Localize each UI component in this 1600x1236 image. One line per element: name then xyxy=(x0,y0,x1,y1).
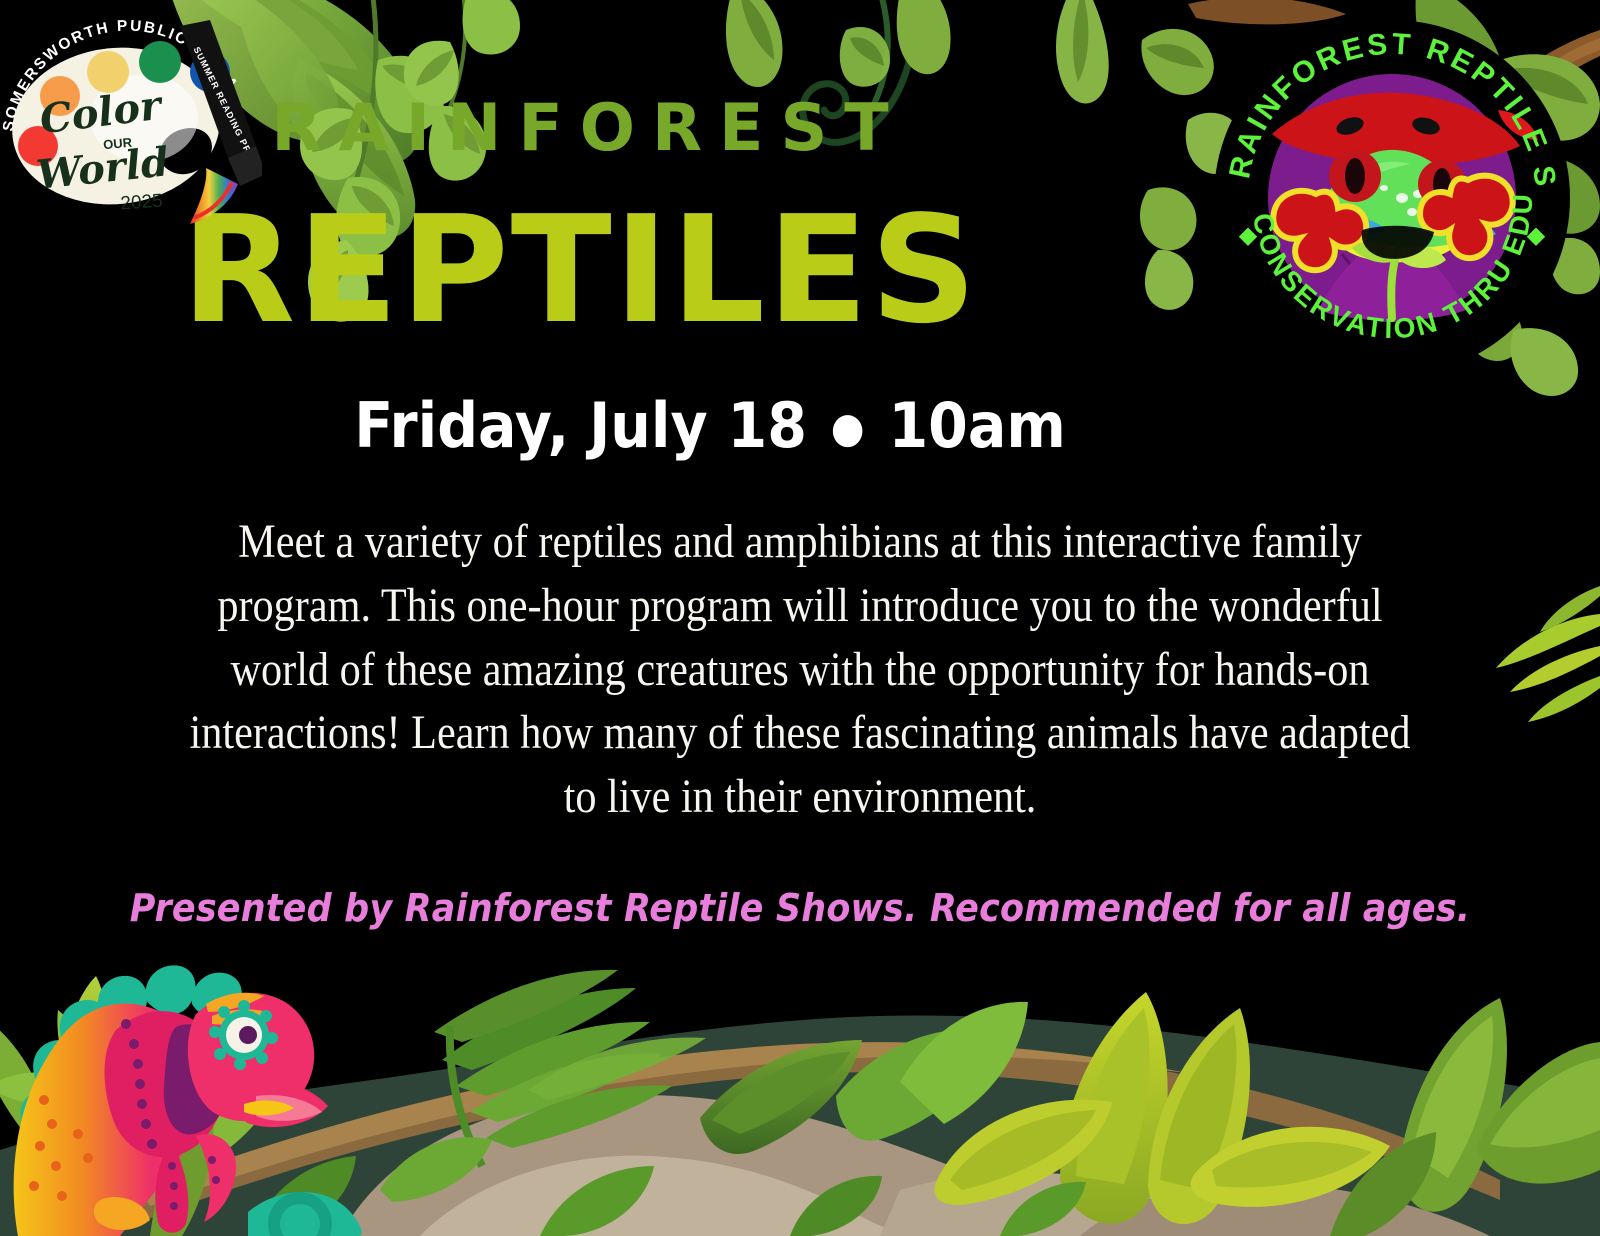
event-time: 10am xyxy=(888,389,1065,462)
event-date: Friday, July 18 xyxy=(354,389,807,462)
rainforest-reptile-shows-logo: RAINFOREST REPTILE SHOWS CONSERVATION TH… xyxy=(1212,18,1572,378)
logo-year: 2025 xyxy=(120,191,164,215)
somersworth-library-logo: SOMERSWORTH PUBLIC LIBRARY Color OUR Wor… xyxy=(0,0,262,232)
palette-well-green xyxy=(139,41,181,83)
event-date-time: Friday, July 18●10am xyxy=(57,392,1363,460)
date-separator-dot: ● xyxy=(807,403,889,452)
program-description: Meet a variety of reptiles and amphibian… xyxy=(184,510,1416,829)
poster-canvas: SOMERSWORTH PUBLIC LIBRARY Color OUR Wor… xyxy=(0,0,1600,1236)
presenter-and-audience-note: Presented by Rainforest Reptile Shows. R… xyxy=(64,886,1536,930)
